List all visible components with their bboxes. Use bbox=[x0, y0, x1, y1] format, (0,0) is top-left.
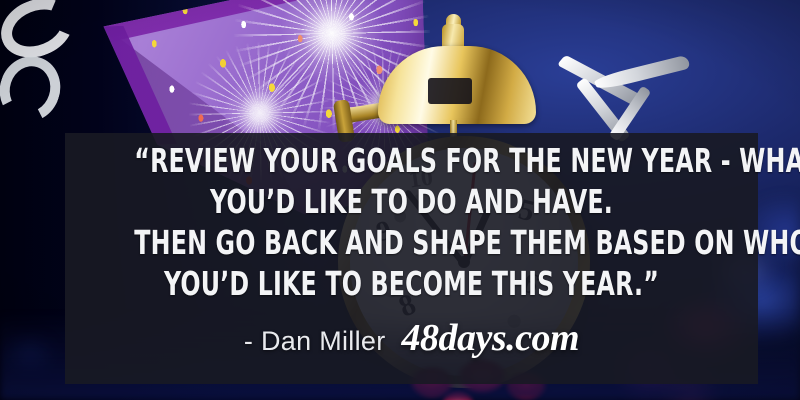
quote-line-4: YOU’D LIKE TO BECOME THIS YEAR.” bbox=[134, 263, 688, 304]
quote-line-2: YOU’D LIKE TO DO AND HAVE. bbox=[134, 181, 688, 222]
quote-author: - Dan Miller bbox=[244, 326, 386, 357]
brand-logo-48days[interactable]: 48days.com bbox=[402, 316, 580, 360]
quote-text-block: “REVIEW YOUR GOALS FOR THE NEW YEAR - WH… bbox=[65, 140, 758, 304]
quote-graphic: 5 6 8 9 10 “REVIEW YOUR GOALS FOR THE NE… bbox=[0, 0, 800, 400]
attribution-row: - Dan Miller 48days.com bbox=[65, 316, 758, 360]
quote-line-3: THEN GO BACK AND SHAPE THEM BASED ON WHO bbox=[134, 222, 688, 263]
quote-line-1: “REVIEW YOUR GOALS FOR THE NEW YEAR - WH… bbox=[134, 140, 688, 181]
